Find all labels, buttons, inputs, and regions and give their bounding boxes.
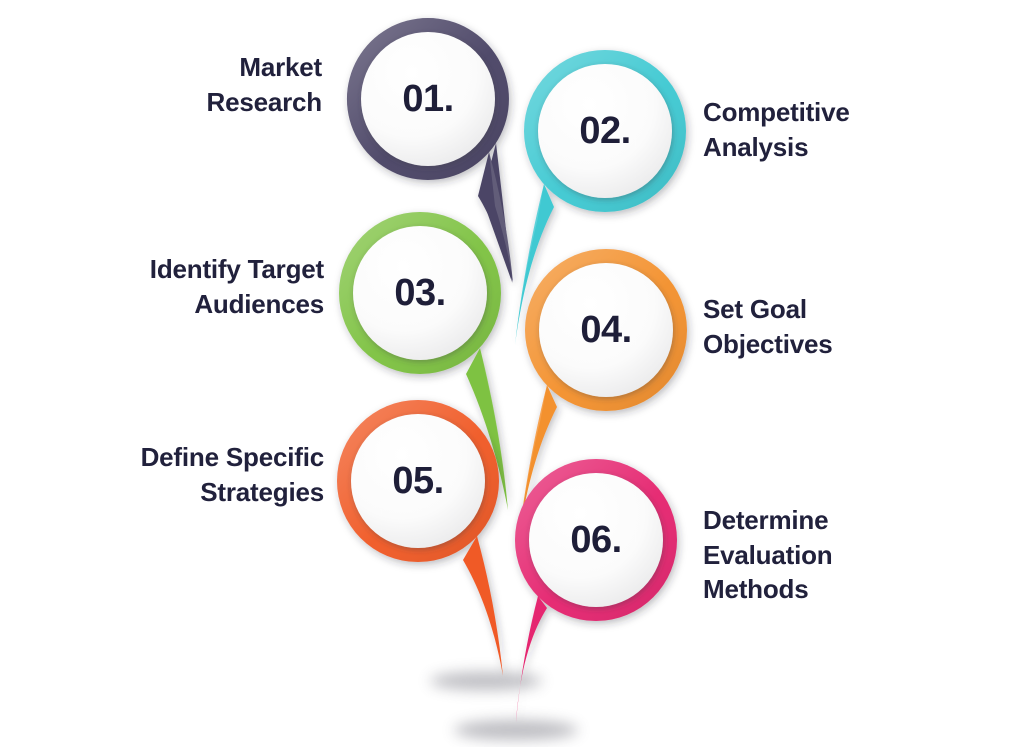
step-label-01: Market Research	[62, 50, 322, 119]
ground-shadow-left	[430, 672, 542, 690]
pin-step-01-number: 01.	[402, 78, 453, 120]
step-label-03: Identify Target Audiences	[24, 252, 324, 321]
ground-shadow-right	[454, 720, 578, 740]
pin-step-05-tail	[463, 536, 503, 676]
pin-step-04-number: 04.	[580, 309, 631, 351]
pin-step-03-number: 03.	[394, 272, 445, 314]
step-label-05: Define Specific Strategies	[24, 440, 324, 509]
pin-step-02-number: 02.	[579, 110, 630, 152]
step-label-04: Set Goal Objectives	[703, 292, 1003, 361]
pin-step-06-tail	[516, 596, 547, 722]
step-label-02: Competitive Analysis	[703, 95, 1003, 164]
pin-step-05-number: 05.	[392, 460, 443, 502]
pin-step-05[interactable]: 05.	[337, 400, 503, 676]
step-label-06: Determine Evaluation Methods	[703, 503, 1003, 607]
ground-shadows	[430, 672, 578, 740]
pin-step-06-number: 06.	[570, 519, 621, 561]
